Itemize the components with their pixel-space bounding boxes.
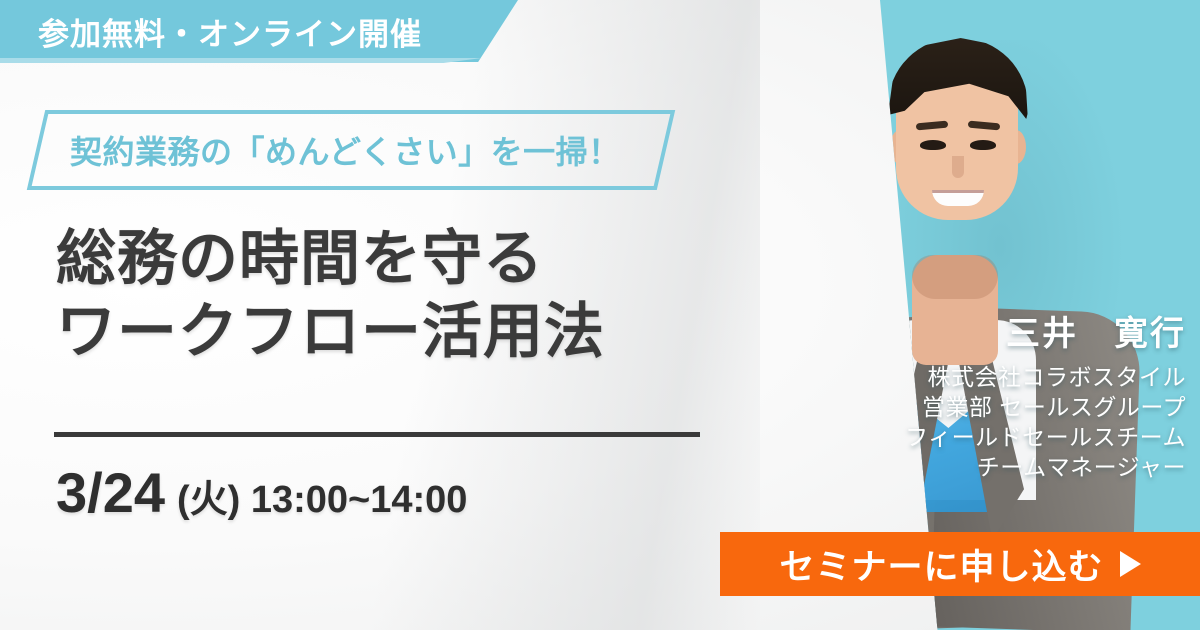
speaker-title: チームマネージャー [746, 452, 1186, 482]
nose [952, 156, 964, 178]
eye-left [920, 140, 946, 150]
free-online-ribbon: 参加無料・オンライン開催 [0, 0, 518, 62]
headline-line-2: ワークフロー活用法 [56, 295, 605, 368]
horizontal-divider [54, 432, 700, 437]
seminar-banner: 参加無料・オンライン開催 契約業務の「めんどくさい」を一掃！ 総務の時間を守る … [0, 0, 1200, 630]
speaker-team: フィールドセールスチーム [746, 422, 1186, 452]
headline-line-1: 総務の時間を守る [56, 222, 605, 295]
speaker-affiliation: 株式会社コラボスタイル 営業部 セールスグループ フィールドセールスチーム チー… [746, 362, 1186, 482]
apply-seminar-label: セミナーに申し込む [779, 539, 1103, 590]
schedule-time: (火) 13:00~14:00 [177, 468, 467, 523]
apply-seminar-button[interactable]: セミナーに申し込む [720, 532, 1200, 596]
speaker-name: 三井 寛行 [766, 306, 1186, 355]
schedule-row: 3/24 (火) 13:00~14:00 [56, 460, 467, 525]
speaker-company: 株式会社コラボスタイル [746, 362, 1186, 392]
play-triangle-icon [1120, 551, 1141, 577]
schedule-date: 3/24 [56, 460, 165, 525]
speaker-department: 営業部 セールスグループ [746, 392, 1186, 422]
subtitle-label: 契約業務の「めんどくさい」を一掃！ [70, 110, 670, 190]
page-title: 総務の時間を守る ワークフロー活用法 [56, 222, 605, 368]
mouth [932, 190, 984, 206]
ribbon-label: 参加無料・オンライン開催 [38, 9, 422, 54]
neck-shadow [912, 255, 998, 299]
ribbon-underline [0, 58, 482, 63]
eye-right [970, 140, 996, 150]
